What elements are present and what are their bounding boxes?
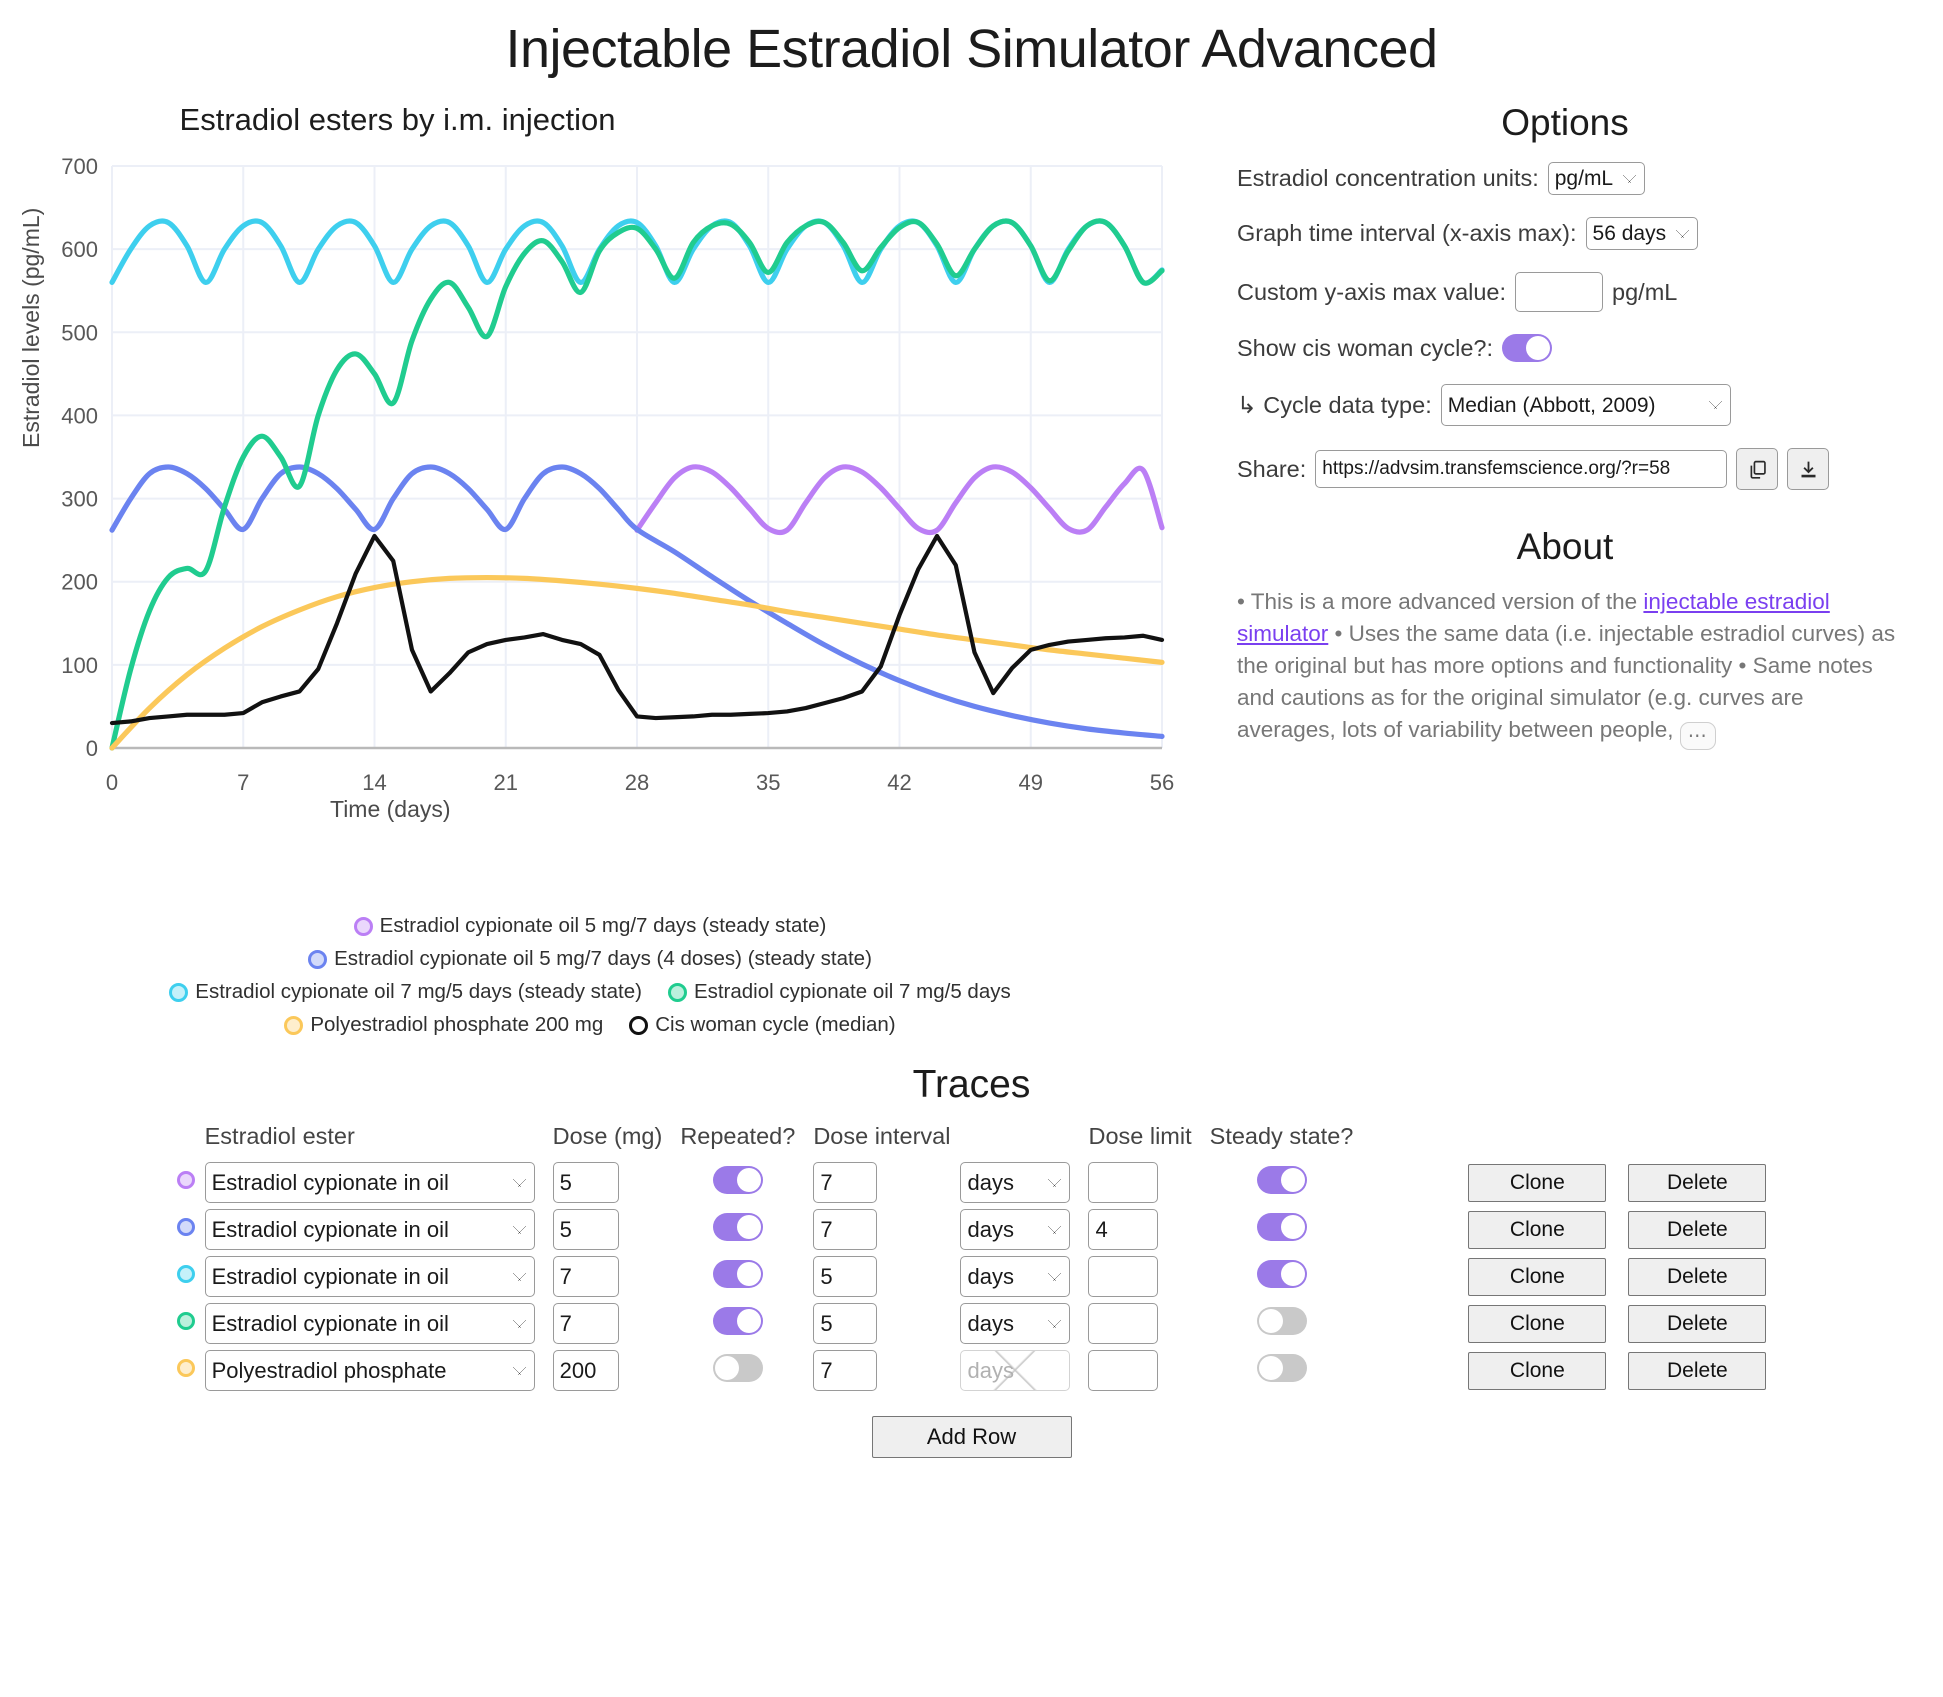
clone-button-2[interactable]: Clone (1468, 1258, 1606, 1296)
dose-cell (535, 1347, 663, 1394)
interval-unit-select-4[interactable]: days (960, 1350, 1070, 1391)
chart-svg: 01002003004005006007000714212835424956 (0, 148, 1200, 808)
steady-state-toggle-4[interactable] (1257, 1354, 1307, 1382)
limit-cell (1070, 1347, 1191, 1394)
delete-cell: Delete (1606, 1347, 1766, 1394)
share-url-input[interactable] (1315, 450, 1727, 488)
legend-label: Estradiol cypionate oil 5 mg/7 days (ste… (380, 914, 827, 938)
y-tick-label: 700 (61, 154, 98, 179)
legend-label: Estradiol cypionate oil 7 mg/5 days (ste… (195, 980, 642, 1004)
custom-ymax-input[interactable] (1515, 272, 1603, 312)
options-panel: Options Estradiol concentration units: p… (1215, 80, 1915, 750)
clone-button-1[interactable]: Clone (1468, 1211, 1606, 1249)
time-interval-label: Graph time interval (x-axis max): (1237, 220, 1577, 247)
legend-marker-icon (668, 983, 687, 1002)
delete-button-4[interactable]: Delete (1628, 1352, 1766, 1390)
legend-label: Estradiol cypionate oil 7 mg/5 days (694, 980, 1011, 1004)
dose-input-1[interactable] (553, 1209, 619, 1250)
legend-item[interactable]: Estradiol cypionate oil 7 mg/5 days (668, 980, 1011, 1004)
dose-cell (535, 1253, 663, 1300)
table-row: Estradiol cypionate in oildaysCloneDelet… (177, 1159, 1767, 1206)
legend-label: Polyestradiol phosphate 200 mg (310, 1013, 603, 1037)
interval-unit-cell: days (950, 1206, 1070, 1253)
delete-button-1[interactable]: Delete (1628, 1211, 1766, 1249)
ester-cell: Estradiol cypionate in oil (205, 1206, 535, 1253)
repeated-cell (662, 1347, 795, 1394)
header-limit: Dose limit (1070, 1123, 1191, 1159)
clone-button-3[interactable]: Clone (1468, 1305, 1606, 1343)
legend-label: Estradiol cypionate oil 5 mg/7 days (4 d… (334, 947, 872, 971)
interval-input-1[interactable] (813, 1209, 877, 1250)
y-tick-label: 500 (61, 320, 98, 345)
custom-ymax-label: Custom y-axis max value: (1237, 279, 1506, 306)
interval-cell (795, 1206, 950, 1253)
repeated-toggle-1[interactable] (713, 1213, 763, 1241)
x-axis-label: Time (days) (330, 796, 451, 823)
option-cycle-type-row: ↳ Cycle data type: Median (Abbott, 2009) (1237, 384, 1915, 426)
time-interval-select[interactable]: 56 days (1586, 217, 1698, 250)
steady-state-toggle-2[interactable] (1257, 1260, 1307, 1288)
options-title: Options (1215, 102, 1915, 144)
header-dose: Dose (mg) (535, 1123, 663, 1159)
x-tick-label: 14 (362, 770, 386, 795)
legend-row: Estradiol cypionate oil 5 mg/7 days (4 d… (308, 947, 872, 971)
dose-cell (535, 1159, 663, 1206)
units-label: Estradiol concentration units: (1237, 165, 1539, 192)
interval-cell (795, 1300, 950, 1347)
repeated-toggle-0[interactable] (713, 1166, 763, 1194)
clone-cell: Clone (1353, 1159, 1606, 1206)
y-tick-label: 400 (61, 403, 98, 428)
x-tick-label: 49 (1019, 770, 1043, 795)
header-repeated: Repeated? (662, 1123, 795, 1159)
delete-cell: Delete (1606, 1206, 1766, 1253)
clone-button-4[interactable]: Clone (1468, 1352, 1606, 1390)
table-row: Polyestradiol phosphatedaysCloneDelete (177, 1347, 1767, 1394)
legend-row: Estradiol cypionate oil 7 mg/5 days (ste… (169, 980, 1010, 1004)
trace-color-marker-icon (177, 1312, 195, 1330)
repeated-toggle-4[interactable] (713, 1354, 763, 1382)
delete-cell: Delete (1606, 1253, 1766, 1300)
interval-input-0[interactable] (813, 1162, 877, 1203)
steady-cell (1192, 1347, 1354, 1394)
limit-input-1[interactable] (1088, 1209, 1158, 1250)
trace-color-marker-icon (177, 1359, 195, 1377)
y-tick-label: 600 (61, 237, 98, 262)
trace-color-cell (177, 1300, 205, 1347)
x-tick-label: 0 (106, 770, 118, 795)
legend-marker-icon (629, 1016, 648, 1035)
download-icon[interactable] (1787, 448, 1829, 490)
clone-button-0[interactable]: Clone (1468, 1164, 1606, 1202)
limit-cell (1070, 1253, 1191, 1300)
y-tick-label: 0 (86, 736, 98, 761)
option-show-cycle-row: Show cis woman cycle?: (1237, 334, 1915, 362)
table-row: Estradiol cypionate in oildaysCloneDelet… (177, 1300, 1767, 1347)
chart-legend: Estradiol cypionate oil 5 mg/7 days (ste… (0, 914, 1180, 1037)
interval-input-3[interactable] (813, 1303, 877, 1344)
ester-select-0[interactable]: Estradiol cypionate in oil (205, 1162, 535, 1203)
trace-color-marker-icon (177, 1171, 195, 1189)
units-select[interactable]: pg/mL (1548, 162, 1645, 195)
option-custom-ymax-row: Custom y-axis max value: pg/mL (1237, 272, 1915, 312)
repeated-cell (662, 1253, 795, 1300)
limit-cell (1070, 1206, 1191, 1253)
about-text-part1: • This is a more advanced version of the (1237, 589, 1643, 614)
repeated-toggle-3[interactable] (713, 1307, 763, 1335)
steady-state-toggle-3[interactable] (1257, 1307, 1307, 1335)
ester-select-4[interactable]: Polyestradiol phosphate (205, 1350, 535, 1391)
trace-color-cell (177, 1253, 205, 1300)
ester-select-3[interactable]: Estradiol cypionate in oil (205, 1303, 535, 1344)
option-share-row: Share: (1237, 448, 1915, 490)
limit-cell (1070, 1300, 1191, 1347)
chart-title: Estradiol esters by i.m. injection (0, 102, 1215, 138)
option-units-row: Estradiol concentration units: pg/mL (1237, 162, 1915, 195)
x-tick-label: 35 (756, 770, 780, 795)
legend-row: Polyestradiol phosphate 200 mgCis woman … (284, 1013, 895, 1037)
steady-cell (1192, 1159, 1354, 1206)
clone-cell: Clone (1353, 1206, 1606, 1253)
legend-marker-icon (284, 1016, 303, 1035)
trace-color-cell (177, 1347, 205, 1394)
repeated-cell (662, 1159, 795, 1206)
cycle-type-select[interactable]: Median (Abbott, 2009) (1441, 384, 1731, 426)
interval-unit-select-0[interactable]: days (960, 1162, 1070, 1203)
plot-area: Estradiol levels (pg/mL) 010020030040050… (0, 148, 1200, 908)
legend-item[interactable]: Cis woman cycle (median) (629, 1013, 895, 1037)
custom-ymax-suffix: pg/mL (1612, 279, 1677, 306)
interval-unit-cell: days (950, 1159, 1070, 1206)
interval-unit-cell: days (950, 1253, 1070, 1300)
header-interval: Dose interval (795, 1123, 950, 1159)
about-text-part2: • Uses the same data (i.e. injectable es… (1237, 621, 1895, 742)
legend-marker-icon (308, 950, 327, 969)
show-cycle-label: Show cis woman cycle?: (1237, 335, 1493, 362)
delete-cell: Delete (1606, 1159, 1766, 1206)
add-row-button[interactable]: Add Row (872, 1416, 1072, 1458)
interval-cell (795, 1159, 950, 1206)
steady-state-toggle-1[interactable] (1257, 1213, 1307, 1241)
main-content: Estradiol esters by i.m. injection Estra… (0, 80, 1943, 1037)
clone-cell: Clone (1353, 1300, 1606, 1347)
delete-button-2[interactable]: Delete (1628, 1258, 1766, 1296)
legend-item[interactable]: Estradiol cypionate oil 5 mg/7 days (4 d… (308, 947, 872, 971)
traces-title: Traces (0, 1063, 1943, 1107)
show-cycle-toggle[interactable] (1502, 334, 1552, 362)
copy-icon[interactable] (1736, 448, 1778, 490)
steady-cell (1192, 1300, 1354, 1347)
legend-marker-icon (354, 917, 373, 936)
trace-color-marker-icon (177, 1218, 195, 1236)
traces-header-row: Estradiol ester Dose (mg) Repeated? Dose… (177, 1123, 1767, 1159)
legend-item[interactable]: Estradiol cypionate oil 7 mg/5 days (ste… (169, 980, 642, 1004)
interval-unit-cell: days (950, 1300, 1070, 1347)
option-time-interval-row: Graph time interval (x-axis max): 56 day… (1237, 217, 1915, 250)
repeated-toggle-2[interactable] (713, 1260, 763, 1288)
add-row-container: Add Row (0, 1416, 1943, 1458)
about-title: About (1215, 526, 1915, 568)
interval-cell (795, 1347, 950, 1394)
x-tick-label: 28 (625, 770, 649, 795)
traces-table: Estradiol ester Dose (mg) Repeated? Dose… (177, 1123, 1767, 1394)
page-title: Injectable Estradiol Simulator Advanced (0, 18, 1943, 80)
delete-cell: Delete (1606, 1300, 1766, 1347)
interval-unit-select-3[interactable]: days (960, 1303, 1070, 1344)
x-tick-label: 42 (887, 770, 911, 795)
ester-select-2[interactable]: Estradiol cypionate in oil (205, 1256, 535, 1297)
x-tick-label: 7 (237, 770, 249, 795)
header-ester: Estradiol ester (205, 1123, 535, 1159)
interval-unit-select-2[interactable]: days (960, 1256, 1070, 1297)
clone-cell: Clone (1353, 1253, 1606, 1300)
ester-cell: Estradiol cypionate in oil (205, 1159, 535, 1206)
share-label: Share: (1237, 456, 1306, 483)
header-steady: Steady state? (1192, 1123, 1354, 1159)
table-row: Estradiol cypionate in oildaysCloneDelet… (177, 1206, 1767, 1253)
legend-marker-icon (169, 983, 188, 1002)
steady-cell (1192, 1253, 1354, 1300)
repeated-cell (662, 1206, 795, 1253)
legend-label: Cis woman cycle (median) (655, 1013, 895, 1037)
legend-row: Estradiol cypionate oil 5 mg/7 days (ste… (354, 914, 827, 938)
interval-input-4[interactable] (813, 1350, 877, 1391)
about-text: • This is a more advanced version of the… (1237, 586, 1897, 750)
delete-button-3[interactable]: Delete (1628, 1305, 1766, 1343)
chart-panel: Estradiol esters by i.m. injection Estra… (0, 80, 1215, 1037)
y-tick-label: 200 (61, 570, 98, 595)
ester-select-1[interactable]: Estradiol cypionate in oil (205, 1209, 535, 1250)
dose-input-3[interactable] (553, 1303, 619, 1344)
ester-cell: Polyestradiol phosphate (205, 1347, 535, 1394)
interval-unit-cell: days (950, 1347, 1070, 1394)
ester-cell: Estradiol cypionate in oil (205, 1300, 535, 1347)
dose-input-2[interactable] (553, 1256, 619, 1297)
trace-color-marker-icon (177, 1265, 195, 1283)
clone-cell: Clone (1353, 1347, 1606, 1394)
trace-color-cell (177, 1206, 205, 1253)
dose-cell (535, 1300, 663, 1347)
limit-input-3[interactable] (1088, 1303, 1158, 1344)
interval-cell (795, 1253, 950, 1300)
x-tick-label: 56 (1150, 770, 1174, 795)
trace-color-cell (177, 1159, 205, 1206)
delete-button-0[interactable]: Delete (1628, 1164, 1766, 1202)
limit-cell (1070, 1159, 1191, 1206)
dose-input-0[interactable] (553, 1162, 619, 1203)
interval-unit-select-1[interactable]: days (960, 1209, 1070, 1250)
table-row: Estradiol cypionate in oildaysCloneDelet… (177, 1253, 1767, 1300)
y-tick-label: 100 (61, 653, 98, 678)
steady-cell (1192, 1206, 1354, 1253)
about-expand-button[interactable]: ⋯ (1680, 722, 1716, 750)
repeated-cell (662, 1300, 795, 1347)
limit-input-4[interactable] (1088, 1350, 1158, 1391)
ester-cell: Estradiol cypionate in oil (205, 1253, 535, 1300)
cycle-type-label: ↳ Cycle data type: (1237, 391, 1432, 419)
y-tick-label: 300 (61, 487, 98, 512)
limit-input-2[interactable] (1088, 1256, 1158, 1297)
dose-input-4[interactable] (553, 1350, 619, 1391)
limit-input-0[interactable] (1088, 1162, 1158, 1203)
legend-item[interactable]: Estradiol cypionate oil 5 mg/7 days (ste… (354, 914, 827, 938)
steady-state-toggle-0[interactable] (1257, 1166, 1307, 1194)
dose-cell (535, 1206, 663, 1253)
legend-item[interactable]: Polyestradiol phosphate 200 mg (284, 1013, 603, 1037)
interval-input-2[interactable] (813, 1256, 877, 1297)
x-tick-label: 21 (494, 770, 518, 795)
